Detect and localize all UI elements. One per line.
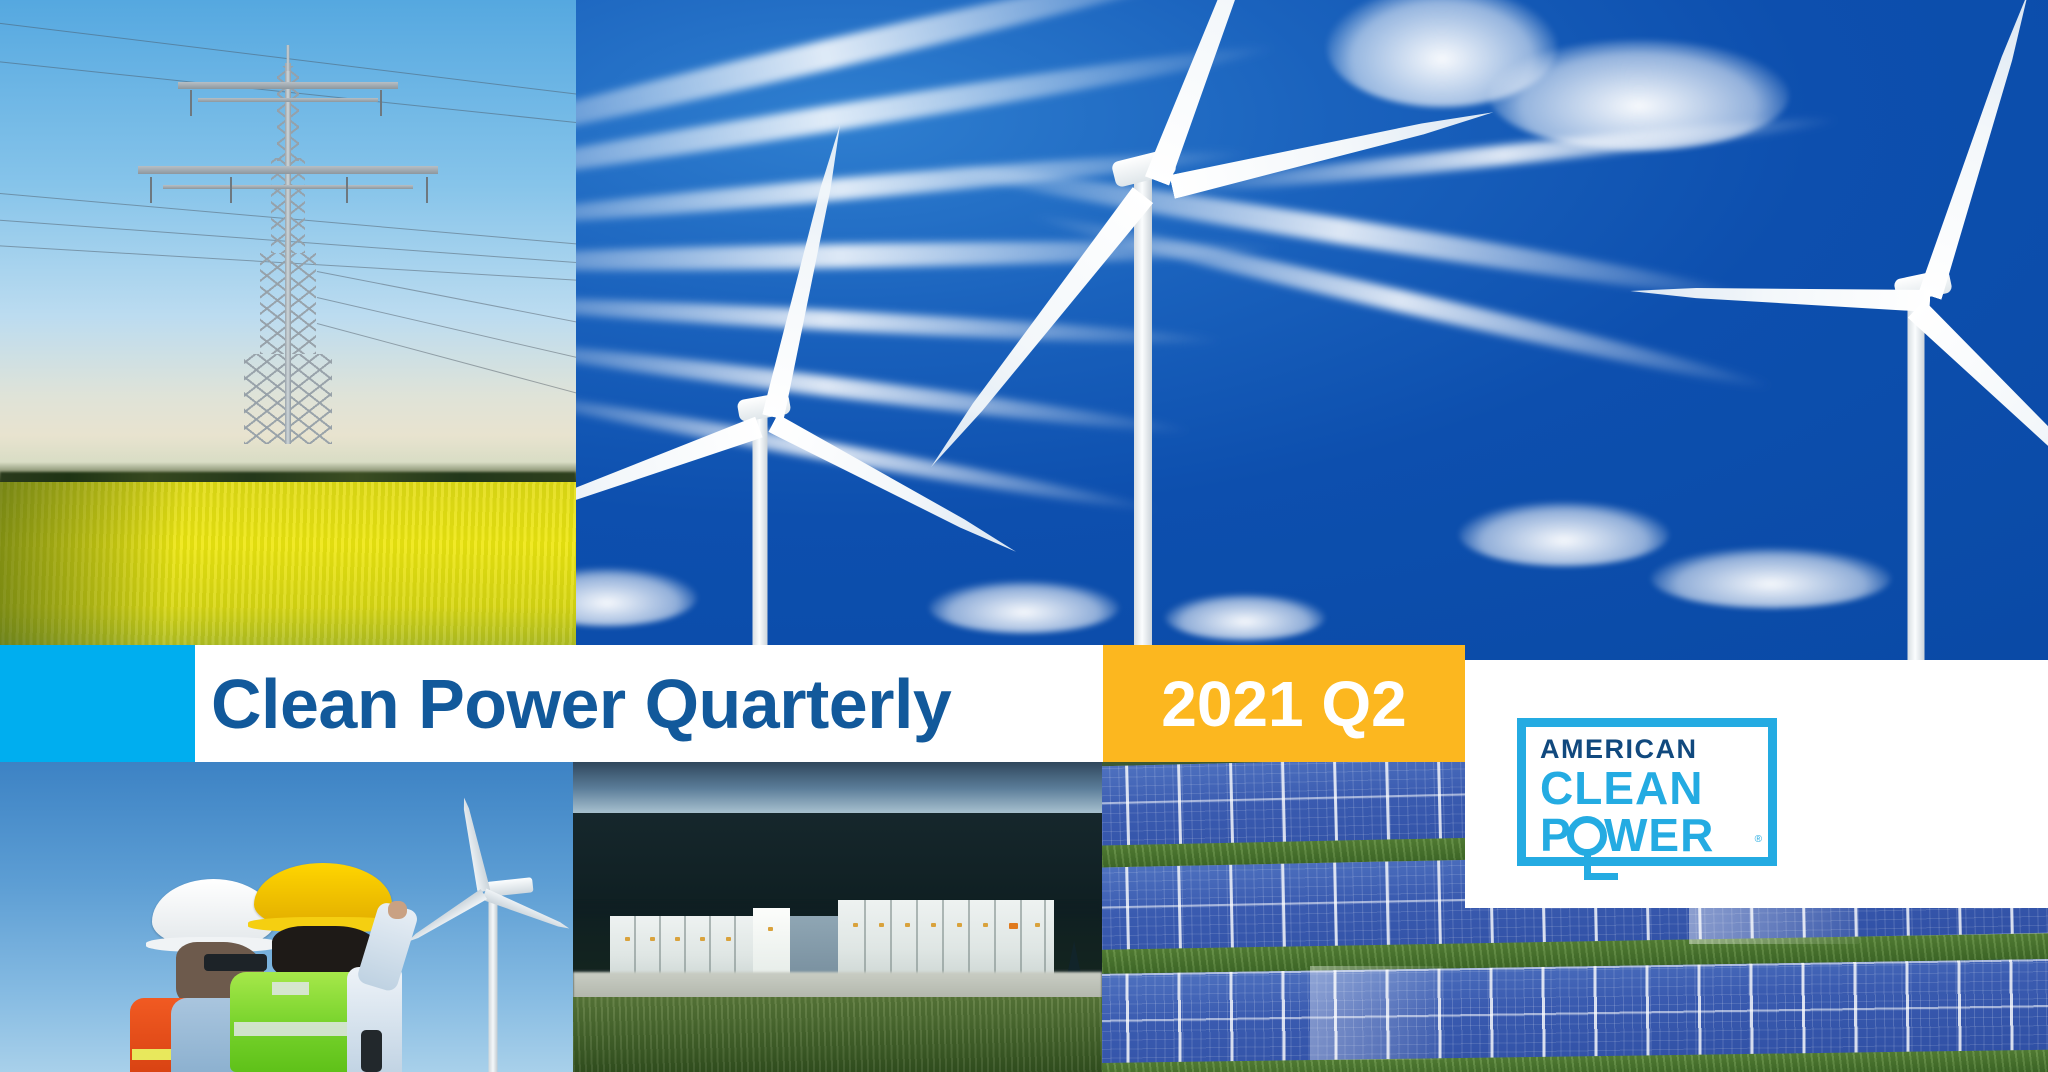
logo-line-clean: CLEAN	[1540, 765, 1768, 811]
solar-panel-glare	[1310, 966, 1442, 1060]
page-title: Clean Power Quarterly	[211, 664, 951, 744]
worker-yellow-hardhat	[241, 863, 413, 1072]
photo-wind-turbines	[576, 0, 2048, 660]
american-clean-power-logo: AMERICAN CLEAN P WER ®	[1517, 718, 1777, 866]
photo-transmission-tower	[0, 0, 576, 660]
transmission-tower-icon	[0, 0, 576, 528]
plug-foot-icon	[1584, 873, 1618, 880]
report-cover: Clean Power Quarterly 2021 Q2 AMERICAN C…	[0, 0, 2048, 1072]
banner-title-field: Clean Power Quarterly	[195, 645, 1103, 762]
power-plug-icon	[1567, 816, 1607, 856]
banner-cyan-accent-block	[0, 645, 195, 762]
registered-trademark-mark: ®	[1755, 834, 1762, 845]
backpack-strap	[361, 1030, 382, 1072]
wind-turbine-right	[576, 0, 2048, 660]
title-banner: Clean Power Quarterly 2021 Q2	[0, 645, 1465, 762]
issue-quarter-label: 2021 Q2	[1161, 667, 1407, 741]
foreground-grass	[573, 997, 1102, 1072]
photo-battery-storage	[573, 760, 1102, 1072]
logo-line-power: P WER	[1540, 812, 1768, 862]
banner-quarter-field: 2021 Q2	[1103, 645, 1465, 762]
pointing-hand	[388, 901, 407, 920]
canola-field	[0, 482, 576, 660]
logo-line-american: AMERICAN	[1540, 736, 1768, 763]
logo-card: AMERICAN CLEAN P WER ®	[1465, 675, 2048, 908]
logo-letters-wer: WER	[1604, 812, 1714, 858]
photo-field-workers	[0, 760, 573, 1072]
